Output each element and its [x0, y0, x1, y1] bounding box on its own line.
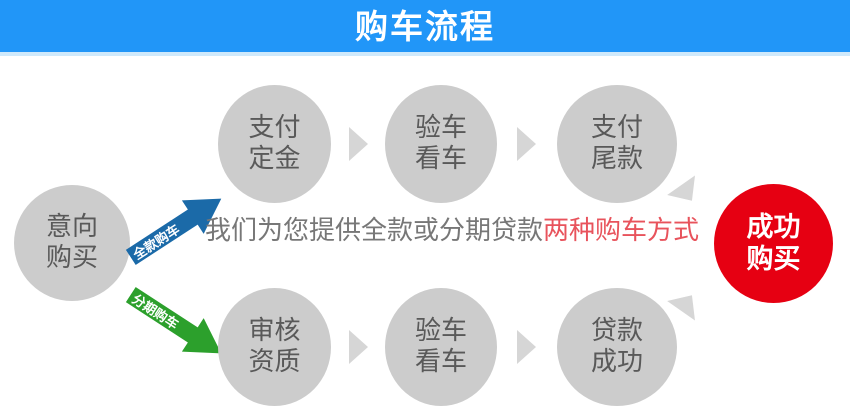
- flow-node-success-line1: 成功: [747, 212, 801, 244]
- center-caption: 我们为您提供全款或分期贷款两种购车方式: [205, 218, 695, 244]
- separator-triangle-icon: [349, 127, 368, 161]
- center-caption-plain: 我们为您提供全款或分期贷款: [205, 216, 543, 246]
- merge-triangle-top-icon: [667, 175, 706, 210]
- flow-node-bottom-3: 贷款 成功: [557, 288, 677, 406]
- flow-node-top-1: 支付 定金: [218, 85, 331, 203]
- flow-node-top-3-line1: 支付: [591, 113, 643, 144]
- flow-node-bottom-3-line1: 贷款: [591, 316, 643, 347]
- purchase-flow-infographic: 购车流程 意向 购买 全款购车 分期购车 支付 定金 验: [0, 0, 850, 407]
- flow-node-start-line2: 购买: [46, 243, 98, 274]
- flow-node-top-3-line2: 尾款: [591, 144, 643, 175]
- flow-node-bottom-1-line1: 审核: [248, 316, 300, 347]
- header-banner: 购车流程: [0, 0, 850, 52]
- arrow-right-icon: [120, 278, 232, 370]
- flow-node-bottom-2: 验车 看车: [385, 288, 497, 406]
- flow-diagram-stage: 意向 购买 全款购车 分期购车 支付 定金 验车 看车: [0, 56, 850, 407]
- branch-arrow-installment: 分期购车: [120, 278, 232, 370]
- separator-triangle-icon: [517, 127, 536, 161]
- flow-node-top-1-line1: 支付: [248, 113, 300, 144]
- flow-node-top-1-line2: 定金: [248, 144, 300, 175]
- flow-node-bottom-2-line1: 验车: [415, 316, 467, 347]
- flow-node-success: 成功 购买: [714, 184, 833, 303]
- flow-node-top-2-line1: 验车: [415, 113, 467, 144]
- flow-node-bottom-3-line2: 成功: [591, 347, 643, 378]
- flow-node-bottom-1: 审核 资质: [218, 288, 331, 406]
- flow-node-top-2-line2: 看车: [415, 144, 467, 175]
- flow-node-bottom-1-line2: 资质: [248, 347, 300, 378]
- flow-node-top-3: 支付 尾款: [557, 85, 677, 203]
- flow-node-top-2: 验车 看车: [385, 85, 497, 203]
- merge-triangle-bottom-icon: [667, 285, 706, 320]
- flow-node-bottom-2-line2: 看车: [415, 347, 467, 378]
- page-title: 购车流程: [355, 10, 495, 43]
- center-caption-accent: 两种购车方式: [543, 216, 699, 246]
- separator-triangle-icon: [517, 330, 536, 364]
- flow-node-success-line2: 购买: [747, 244, 801, 276]
- flow-node-start: 意向 购买: [14, 185, 130, 301]
- flow-node-start-line1: 意向: [46, 212, 98, 243]
- separator-triangle-icon: [349, 330, 368, 364]
